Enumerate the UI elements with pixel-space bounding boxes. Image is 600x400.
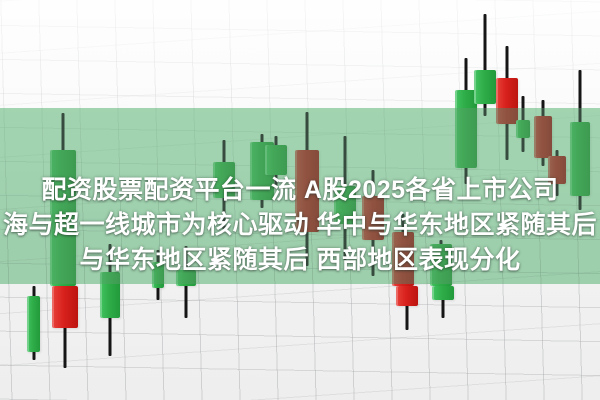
candle-body-up (474, 70, 496, 104)
candle-body-down (396, 286, 418, 306)
candlestick (474, 14, 496, 116)
banner-image: 配资股票配资平台一流 A股2025各省上市公司 海与超一线城市为核心驱动 华中与… (0, 0, 600, 400)
headline-line-3: 与华东地区紧随其后 西部地区表现分化 (0, 243, 600, 278)
candle-body-up (432, 286, 454, 300)
candlestick (396, 286, 418, 330)
headline-text: 配资股票配资平台一流 A股2025各省上市公司 海与超一线城市为核心驱动 华中与… (0, 173, 600, 278)
candlestick (27, 286, 40, 360)
candle-body-down (52, 286, 78, 328)
headline-line-2: 海与超一线城市为核心驱动 华中与华东地区紧随其后 (0, 208, 600, 243)
candlestick (52, 286, 78, 368)
candle-body-up (27, 296, 40, 352)
headline-line-1: 配资股票配资平台一流 A股2025各省上市公司 (0, 173, 600, 208)
candlestick (432, 286, 454, 318)
